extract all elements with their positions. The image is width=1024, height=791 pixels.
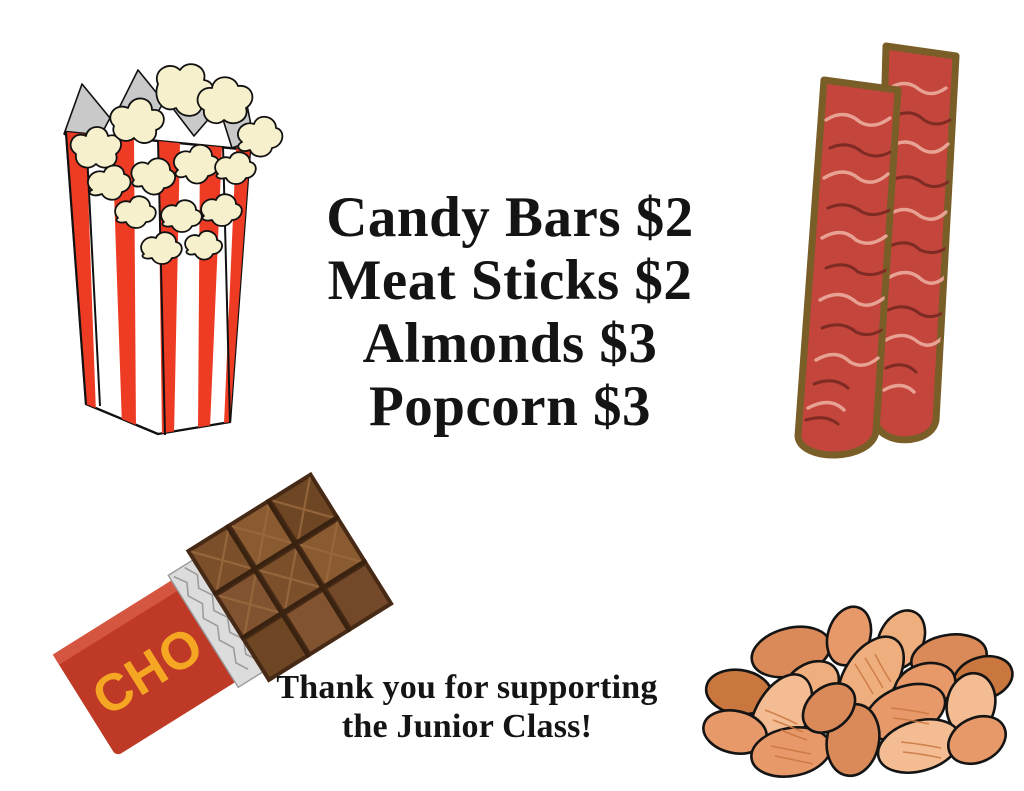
- price-line-meat-sticks: Meat Sticks $2: [250, 249, 770, 312]
- thank-you-line-1: Thank you for supporting: [237, 668, 697, 707]
- price-line-almonds: Almonds $3: [250, 312, 770, 375]
- almond-pile: [699, 601, 1017, 783]
- price-line-candy-bars: Candy Bars $2: [250, 186, 770, 249]
- price-line-popcorn: Popcorn $3: [250, 375, 770, 438]
- almonds-pile-clipart: [695, 600, 1005, 785]
- thank-you-line-2: the Junior Class!: [237, 707, 697, 746]
- thank-you-message: Thank you for supporting the Junior Clas…: [237, 668, 697, 746]
- price-list: Candy Bars $2 Meat Sticks $2 Almonds $3 …: [250, 186, 770, 438]
- flyer-canvas: CHO: [0, 0, 1024, 791]
- popcorn-box-clipart: [18, 22, 268, 442]
